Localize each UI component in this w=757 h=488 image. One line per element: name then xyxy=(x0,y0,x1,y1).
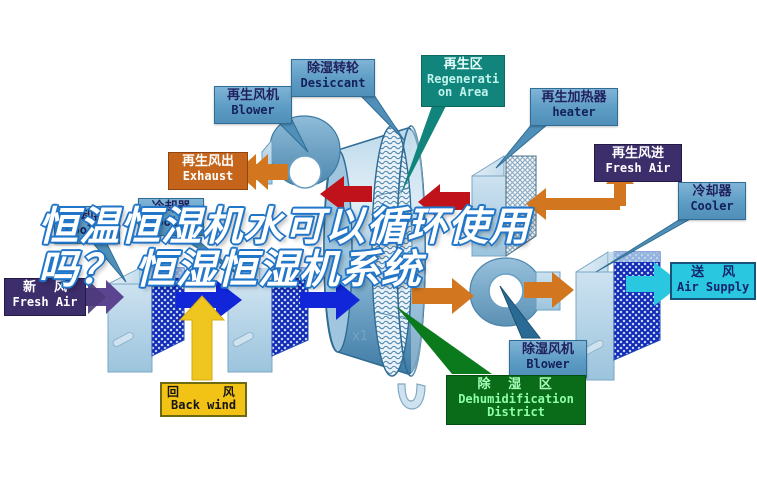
exhaust-label-cn: 再生风出 xyxy=(174,155,242,170)
diagram-canvas: x1 xyxy=(0,0,757,488)
regen-fresh-air-label-cn: 再生风进 xyxy=(600,147,676,162)
dehumidification-district-label-en: Dehumidification District xyxy=(452,393,580,420)
dehumidification-district-label: 除 湿 区Dehumidification District xyxy=(446,375,586,425)
regen-blower-callout-en: Blower xyxy=(220,104,286,117)
dehumidify-blower-callout-cn: 除湿风机 xyxy=(515,343,581,358)
headline-line-2: 吗？ 恒湿恒湿机系统 xyxy=(38,249,728,292)
regen-heater-callout-cn: 再生加热器 xyxy=(536,91,612,106)
cooler-right-callout-cn: 冷却器 xyxy=(684,185,740,200)
regeneration-area-callout-cn: 再生区 xyxy=(427,58,499,73)
headline-line-1: 恒温恒湿机水可以循环使用 xyxy=(38,204,530,250)
dehumidification-district-label-cn: 除 湿 区 xyxy=(452,378,580,393)
page-title-overlay: 恒温恒湿机水可以循环使用 吗？ 恒湿恒湿机系统 xyxy=(38,206,728,292)
fresh-air-label-en: Fresh Air xyxy=(10,296,80,309)
regen-blower-callout-cn: 再生风机 xyxy=(220,89,286,104)
svg-text:x1: x1 xyxy=(352,329,368,344)
desiccant-rotor-callout: 除湿转轮Desiccant xyxy=(291,59,375,97)
desiccant-rotor-pointer xyxy=(360,95,404,140)
regen-heater-callout-en: heater xyxy=(536,106,612,119)
desiccant-rotor-callout-cn: 除湿转轮 xyxy=(297,62,369,77)
regen-fresh-air-label: 再生风进Fresh Air xyxy=(594,144,682,182)
regen-heater-callout: 再生加热器heater xyxy=(530,88,618,126)
back-wind-label-en: Back wind xyxy=(167,399,240,412)
exhaust-label: 再生风出Exhaust xyxy=(168,152,248,190)
regeneration-area-callout: 再生区Regenerati on Area xyxy=(421,55,505,107)
back-wind-label-cn: 回 风 xyxy=(167,386,240,399)
regeneration-area-callout-en: Regenerati on Area xyxy=(427,73,499,100)
back-wind-label: 回 风Back wind xyxy=(160,382,247,417)
desiccant-rotor-callout-en: Desiccant xyxy=(297,77,369,90)
dehumidify-blower-callout: 除湿风机Blower xyxy=(509,340,587,378)
dehumidify-blower-callout-en: Blower xyxy=(515,358,581,371)
regen-blower-callout: 再生风机Blower xyxy=(214,86,292,124)
exhaust-label-en: Exhaust xyxy=(174,170,242,183)
regen-fresh-air-label-en: Fresh Air xyxy=(600,162,676,175)
